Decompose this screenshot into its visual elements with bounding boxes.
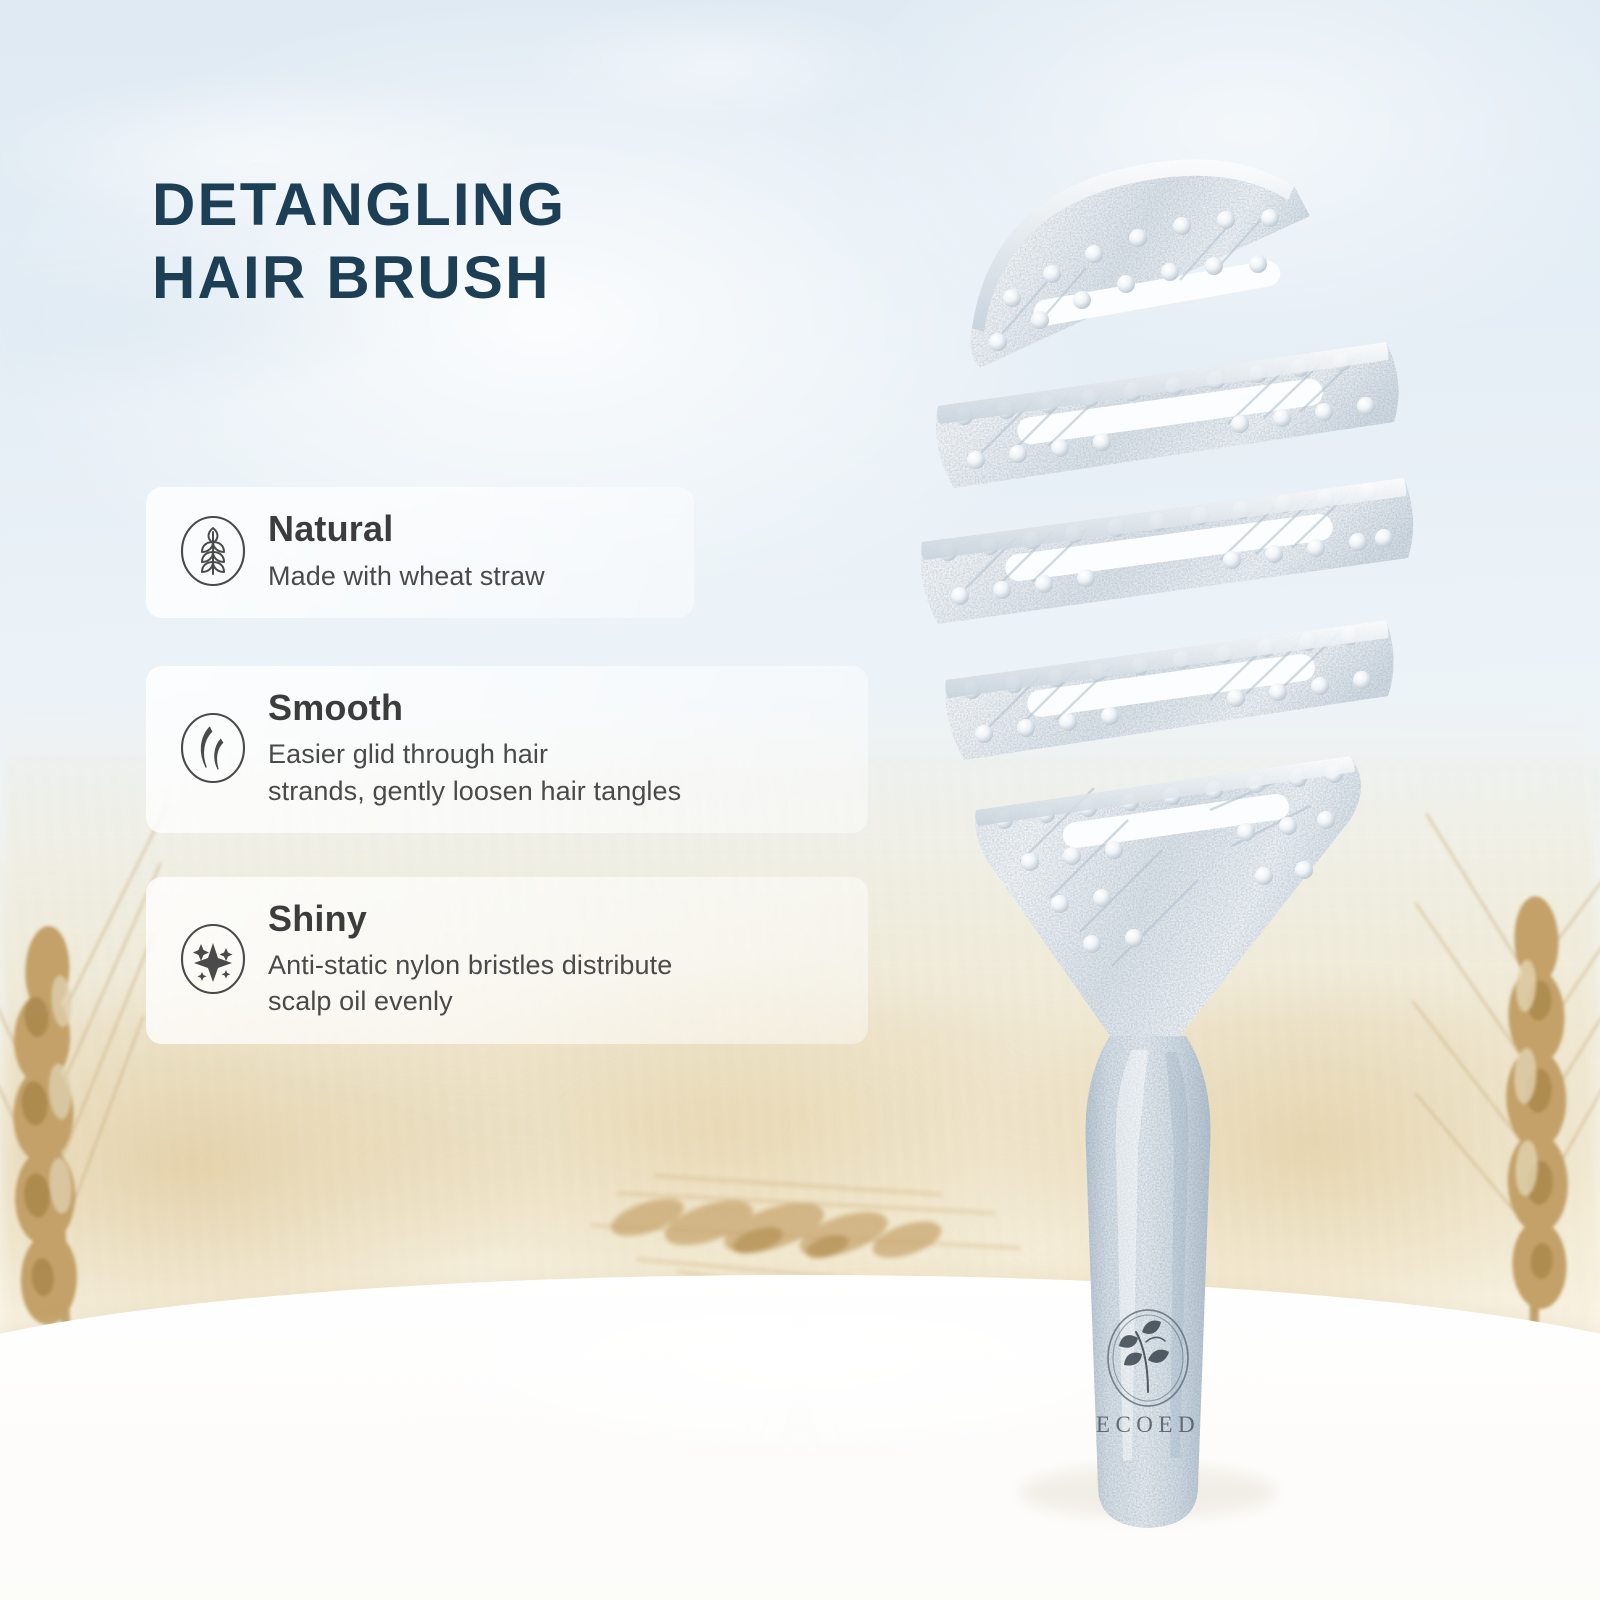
infographic-canvas: DETANGLING HAIR BRUSH Natural [0, 0, 1600, 1600]
feature-title: Shiny [268, 899, 842, 939]
brush-vent-row-5 [975, 756, 1361, 1036]
feature-desc: Easier glid through hair strands, gently… [268, 736, 842, 808]
headline-line-1: DETANGLING [152, 171, 566, 238]
page-title: DETANGLING HAIR BRUSH [152, 168, 852, 314]
sparkle-icon [177, 920, 249, 998]
feature-desc: Made with wheat straw [268, 558, 668, 594]
feature-card-shiny[interactable]: Shiny Anti-static nylon bristles distrib… [146, 877, 868, 1044]
feature-title: Natural [268, 509, 668, 549]
feature-desc: Anti-static nylon bristles distribute sc… [268, 947, 842, 1019]
feature-card-natural[interactable]: Natural Made with wheat straw [146, 487, 694, 618]
headline-line-2: HAIR BRUSH [152, 241, 852, 314]
icon-slot [170, 512, 256, 590]
feature-title: Smooth [268, 688, 842, 728]
icon-slot [170, 920, 256, 998]
brush-vent-row-2 [936, 342, 1399, 488]
icon-slot [170, 709, 256, 787]
card-text: Natural Made with wheat straw [256, 509, 668, 594]
brush-vent-row-4 [945, 620, 1393, 760]
brush-vent-row-3 [921, 478, 1413, 624]
feature-card-list: Natural Made with wheat straw Smooth Eas… [146, 487, 886, 1044]
brand-wordmark: ECOED [1096, 1412, 1200, 1437]
product-image-hair-brush: ECOED [880, 120, 1440, 1550]
wheat-icon [177, 512, 249, 590]
brush-vent-row-1 [970, 159, 1310, 368]
hair-strands-icon [177, 709, 249, 787]
card-text: Smooth Easier glid through hair strands,… [256, 688, 842, 809]
card-text: Shiny Anti-static nylon bristles distrib… [256, 899, 842, 1020]
feature-card-smooth[interactable]: Smooth Easier glid through hair strands,… [146, 666, 868, 833]
